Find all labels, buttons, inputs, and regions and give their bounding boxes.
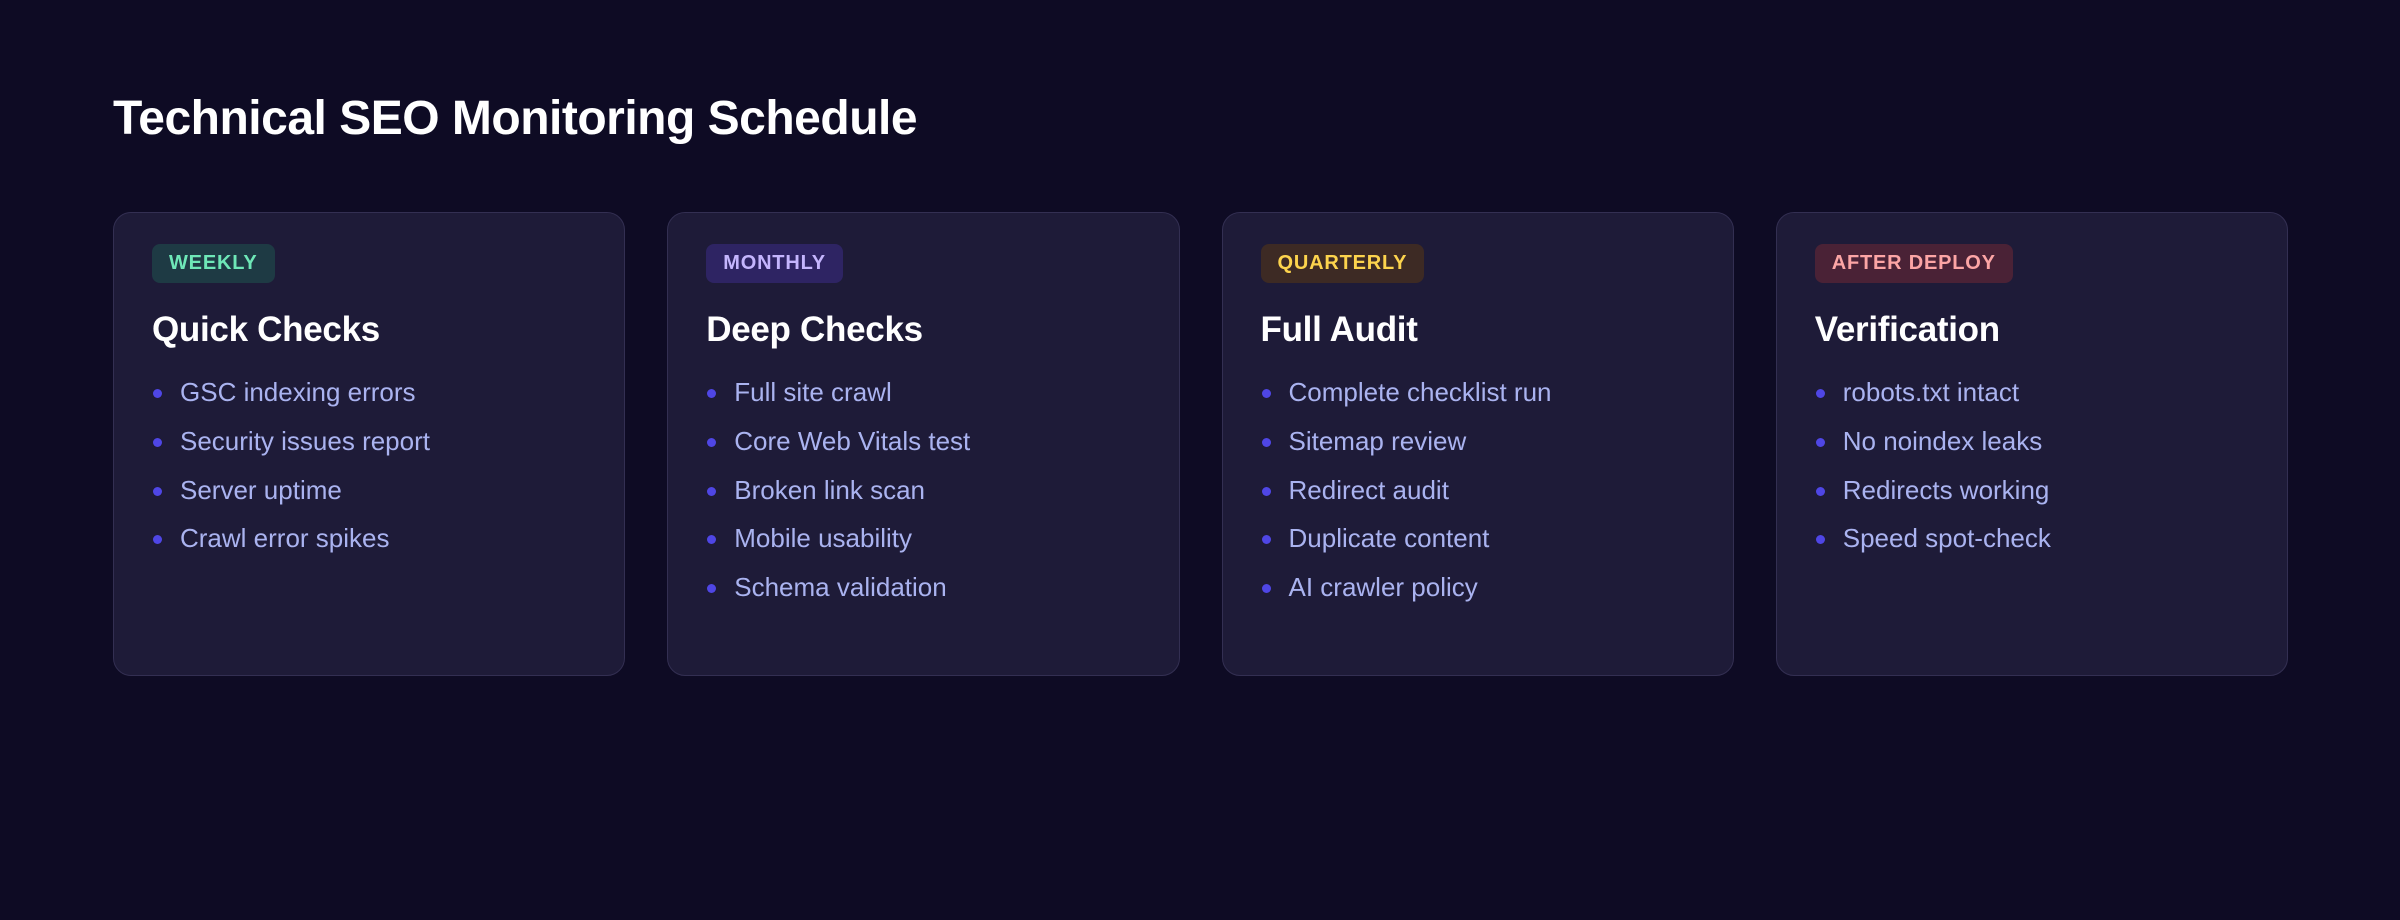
list-item: Schema validation <box>706 572 1140 604</box>
list-item: Sitemap review <box>1261 426 1695 458</box>
card-list-monthly: Full site crawl Core Web Vitals test Bro… <box>706 377 1140 604</box>
list-item-label: Redirect audit <box>1289 475 1449 505</box>
list-item-label: Broken link scan <box>734 475 925 505</box>
list-item-label: No noindex leaks <box>1843 426 2042 456</box>
bullet-icon <box>1816 535 1825 544</box>
schedule-card-monthly: MONTHLY Deep Checks Full site crawl Core… <box>667 212 1179 676</box>
list-item: Redirects working <box>1815 475 2249 507</box>
list-item-label: Mobile usability <box>734 523 912 553</box>
list-item: GSC indexing errors <box>152 377 586 409</box>
bullet-icon <box>153 535 162 544</box>
bullet-icon <box>1262 535 1271 544</box>
list-item: Mobile usability <box>706 523 1140 555</box>
page-title: Technical SEO Monitoring Schedule <box>113 93 917 146</box>
list-item: Server uptime <box>152 475 586 507</box>
list-item: Core Web Vitals test <box>706 426 1140 458</box>
bullet-icon <box>1262 389 1271 398</box>
card-list-weekly: GSC indexing errors Security issues repo… <box>152 377 586 555</box>
card-list-quarterly: Complete checklist run Sitemap review Re… <box>1261 377 1695 604</box>
list-item: Full site crawl <box>706 377 1140 409</box>
card-badge-quarterly: QUARTERLY <box>1261 244 1425 283</box>
list-item-label: Duplicate content <box>1289 523 1490 553</box>
bullet-icon <box>1816 389 1825 398</box>
list-item: Complete checklist run <box>1261 377 1695 409</box>
bullet-icon <box>707 487 716 496</box>
bullet-icon <box>707 389 716 398</box>
card-heading-after-deploy: Verification <box>1815 310 2249 350</box>
list-item-label: Security issues report <box>180 426 430 456</box>
list-item: Redirect audit <box>1261 475 1695 507</box>
bullet-icon <box>707 438 716 447</box>
list-item-label: Crawl error spikes <box>180 523 390 553</box>
list-item-label: Full site crawl <box>734 377 891 407</box>
bullet-icon <box>1816 438 1825 447</box>
bullet-icon <box>1262 584 1271 593</box>
schedule-card-quarterly: QUARTERLY Full Audit Complete checklist … <box>1222 212 1734 676</box>
card-badge-weekly: WEEKLY <box>152 244 275 283</box>
list-item: AI crawler policy <box>1261 572 1695 604</box>
bullet-icon <box>153 487 162 496</box>
list-item-label: Core Web Vitals test <box>734 426 970 456</box>
list-item-label: AI crawler policy <box>1289 572 1478 602</box>
list-item-label: robots.txt intact <box>1843 377 2019 407</box>
list-item-label: Complete checklist run <box>1289 377 1552 407</box>
list-item-label: Sitemap review <box>1289 426 1467 456</box>
list-item: Broken link scan <box>706 475 1140 507</box>
list-item: No noindex leaks <box>1815 426 2249 458</box>
schedule-card-after-deploy: AFTER DEPLOY Verification robots.txt int… <box>1776 212 2288 676</box>
bullet-icon <box>707 535 716 544</box>
bullet-icon <box>1262 487 1271 496</box>
bullet-icon <box>153 438 162 447</box>
schedule-card-weekly: WEEKLY Quick Checks GSC indexing errors … <box>113 212 625 676</box>
list-item: robots.txt intact <box>1815 377 2249 409</box>
list-item: Speed spot-check <box>1815 523 2249 555</box>
page-root: Technical SEO Monitoring Schedule WEEKLY… <box>0 0 2400 920</box>
card-heading-monthly: Deep Checks <box>706 310 1140 350</box>
list-item-label: Speed spot-check <box>1843 523 2051 553</box>
card-list-after-deploy: robots.txt intact No noindex leaks Redir… <box>1815 377 2249 555</box>
list-item-label: Schema validation <box>734 572 946 602</box>
list-item-label: Server uptime <box>180 475 342 505</box>
list-item: Crawl error spikes <box>152 523 586 555</box>
bullet-icon <box>1262 438 1271 447</box>
bullet-icon <box>707 584 716 593</box>
list-item-label: GSC indexing errors <box>180 377 416 407</box>
list-item: Security issues report <box>152 426 586 458</box>
bullet-icon <box>1816 487 1825 496</box>
schedule-card-grid: WEEKLY Quick Checks GSC indexing errors … <box>113 212 2288 676</box>
card-heading-quarterly: Full Audit <box>1261 310 1695 350</box>
list-item: Duplicate content <box>1261 523 1695 555</box>
list-item-label: Redirects working <box>1843 475 2050 505</box>
card-heading-weekly: Quick Checks <box>152 310 586 350</box>
card-badge-after-deploy: AFTER DEPLOY <box>1815 244 2013 283</box>
card-badge-monthly: MONTHLY <box>706 244 843 283</box>
bullet-icon <box>153 389 162 398</box>
